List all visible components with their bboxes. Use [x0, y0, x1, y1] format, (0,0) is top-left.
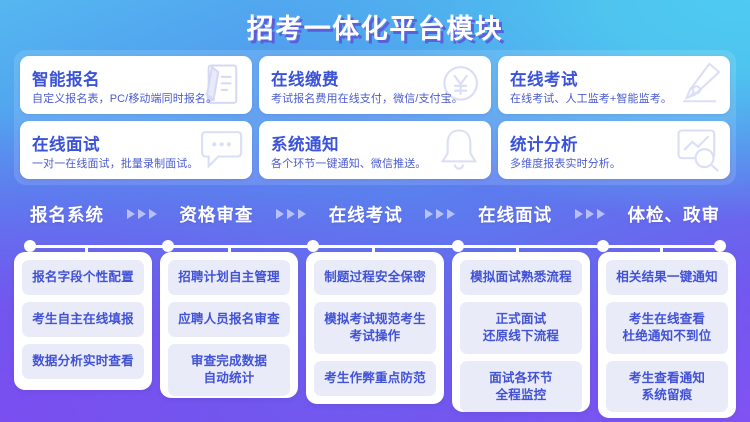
flow-step-physical-political-review: 体检、政审: [628, 202, 721, 227]
feature-card-system-notification[interactable]: 系统通知 各个环节一键通知、微信推送。: [259, 121, 491, 179]
timeline-line: [30, 245, 720, 248]
detail-item[interactable]: 模拟面试熟悉流程: [460, 260, 582, 295]
flow-arrow-2: [276, 209, 306, 219]
feature-card-title: 在线缴费: [271, 66, 481, 90]
detail-item[interactable]: 制题过程安全保密: [314, 260, 436, 295]
feature-card-statistics[interactable]: 统计分析 多维度报表实时分析。: [498, 121, 730, 179]
detail-column-online-exam: 制题过程安全保密 模拟考试规范考生 考试操作 考生作弊重点防范: [306, 252, 444, 404]
feature-card-smart-registration[interactable]: 智能报名 自定义报名表，PC/移动端同时报名。: [20, 56, 252, 114]
detail-item[interactable]: 报名字段个性配置: [22, 260, 144, 295]
detail-item[interactable]: 数据分析实时查看: [22, 344, 144, 379]
detail-column-online-interview: 模拟面试熟悉流程 正式面试 还原线下流程 面试各环节 全程监控: [452, 252, 590, 412]
feature-card-online-interview[interactable]: 在线面试 一对一在线面试，批量录制面试。: [20, 121, 252, 179]
feature-card-desc: 考试报名费用在线支付，微信/支付宝。: [271, 93, 481, 107]
timeline-dot-3: [307, 240, 319, 252]
feature-card-desc: 多维度报表实时分析。: [510, 158, 720, 172]
timeline-dot-5: [597, 240, 609, 252]
detail-item[interactable]: 考生作弊重点防范: [314, 361, 436, 396]
feature-card-title: 统计分析: [510, 131, 720, 155]
timeline-dot-2: [162, 240, 174, 252]
detail-item[interactable]: 审查完成数据 自动统计: [168, 344, 290, 396]
detail-item[interactable]: 面试各环节 全程监控: [460, 361, 582, 413]
feature-card-desc: 在线考试、人工监考+智能监考。: [510, 93, 720, 107]
feature-card-title: 在线考试: [510, 66, 720, 90]
flow-step-qualification-review: 资格审查: [179, 202, 253, 227]
process-flow-row: 报名系统 资格审查 在线考试 在线面试 体检、政审: [14, 196, 736, 232]
flow-arrow-1: [127, 209, 157, 219]
flow-step-online-exam: 在线考试: [329, 202, 403, 227]
feature-card-title: 在线面试: [32, 131, 242, 155]
page-title-bar: 招考一体化平台模块: [0, 4, 750, 48]
timeline-dot-6: [714, 240, 726, 252]
detail-column-group: 报名字段个性配置 考生自主在线填报 数据分析实时查看 招聘计划自主管理 应聘人员…: [14, 252, 736, 422]
detail-item[interactable]: 招聘计划自主管理: [168, 260, 290, 295]
feature-card-desc: 各个环节一键通知、微信推送。: [271, 158, 481, 172]
timeline-dot-1: [24, 240, 36, 252]
flow-step-registration: 报名系统: [30, 202, 104, 227]
feature-card-title: 智能报名: [32, 66, 242, 90]
detail-item[interactable]: 应聘人员报名审查: [168, 302, 290, 337]
feature-card-title: 系统通知: [271, 131, 481, 155]
detail-column-registration: 报名字段个性配置 考生自主在线填报 数据分析实时查看: [14, 252, 152, 390]
detail-item[interactable]: 相关结果一键通知: [606, 260, 728, 295]
detail-item[interactable]: 考生在线查看 杜绝通知不到位: [606, 302, 728, 354]
feature-card-desc: 一对一在线面试，批量录制面试。: [32, 158, 242, 172]
feature-card-grid: 智能报名 自定义报名表，PC/移动端同时报名。 在线缴费 考试报名费用在线支付，…: [14, 50, 736, 185]
feature-card-desc: 自定义报名表，PC/移动端同时报名。: [32, 93, 242, 107]
detail-column-physical-political-review: 相关结果一键通知 考生在线查看 杜绝通知不到位 考生查看通知 系统留痕: [598, 252, 736, 418]
timeline-dot-4: [452, 240, 464, 252]
flow-arrow-4: [575, 209, 605, 219]
detail-item[interactable]: 考生查看通知 系统留痕: [606, 361, 728, 413]
infographic-canvas: 招考一体化平台模块 智能报名 自定义报名表，PC/移动端同时报名。 在线缴费: [0, 0, 750, 422]
page-title: 招考一体化平台模块: [247, 7, 504, 46]
timeline-rail: [24, 240, 726, 252]
detail-item[interactable]: 考生自主在线填报: [22, 302, 144, 337]
feature-card-online-exam[interactable]: 在线考试 在线考试、人工监考+智能监考。: [498, 56, 730, 114]
detail-item[interactable]: 正式面试 还原线下流程: [460, 302, 582, 354]
flow-step-online-interview: 在线面试: [478, 202, 552, 227]
feature-card-online-payment[interactable]: 在线缴费 考试报名费用在线支付，微信/支付宝。: [259, 56, 491, 114]
detail-column-qualification-review: 招聘计划自主管理 应聘人员报名审查 审查完成数据 自动统计: [160, 252, 298, 398]
flow-arrow-3: [425, 209, 455, 219]
detail-item[interactable]: 模拟考试规范考生 考试操作: [314, 302, 436, 354]
